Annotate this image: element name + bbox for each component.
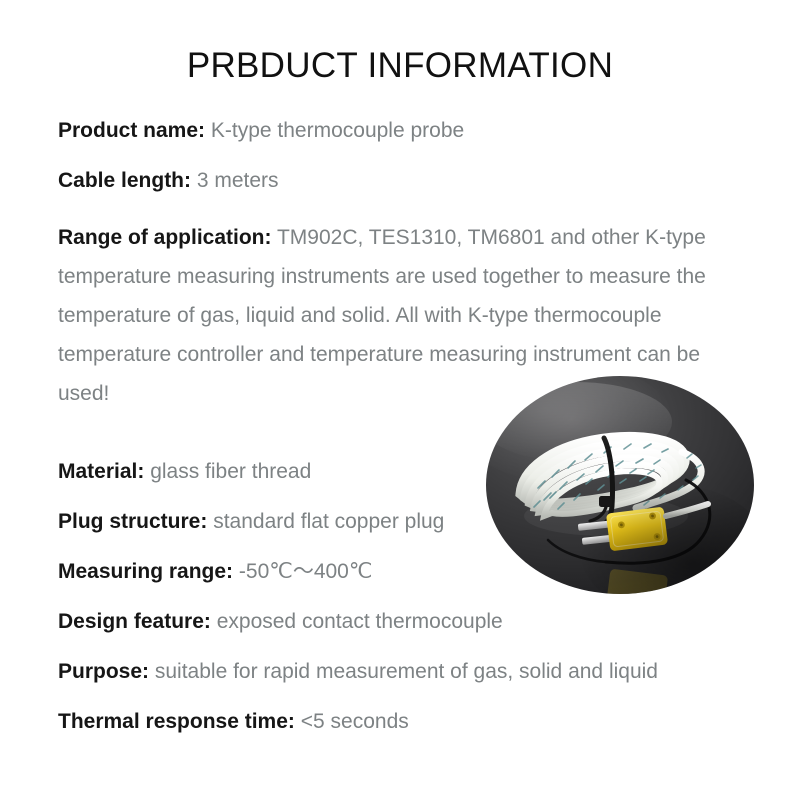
product-information-page: PRBDUCT INFORMATION Product name: K-type…: [0, 0, 800, 800]
spec-value-measuring-range: -50℃～400℃: [239, 560, 373, 583]
spec-row-product-name: Product name: K-type thermocouple probe: [58, 118, 758, 143]
product-photo: [486, 376, 754, 594]
spec-row-design-feature: Design feature: exposed contact thermoco…: [58, 609, 758, 634]
spec-label-cable-length: Cable length:: [58, 169, 191, 192]
thermocouple-illustration: [486, 376, 754, 594]
page-title: PRBDUCT INFORMATION: [0, 46, 800, 86]
spec-label-plug-structure: Plug structure:: [58, 510, 207, 533]
spec-value-product-name: K-type thermocouple probe: [211, 119, 464, 142]
spec-value-purpose: suitable for rapid measurement of gas, s…: [155, 660, 658, 683]
spec-value-design-feature: exposed contact thermocouple: [217, 610, 503, 633]
spec-label-purpose: Purpose:: [58, 660, 149, 683]
spec-label-measuring-range: Measuring range:: [58, 560, 233, 583]
spec-value-cable-length: 3 meters: [197, 169, 279, 192]
spec-value-material: glass fiber thread: [150, 460, 311, 483]
spec-row-thermal-response-time: Thermal response time: <5 seconds: [58, 709, 758, 734]
spec-value-thermal-response-time: <5 seconds: [301, 710, 409, 733]
spec-label-range-of-application: Range of application:: [58, 226, 272, 249]
spec-label-design-feature: Design feature:: [58, 610, 211, 633]
spec-label-product-name: Product name:: [58, 119, 205, 142]
spec-row-cable-length: Cable length: 3 meters: [58, 168, 758, 193]
spec-label-material: Material:: [58, 460, 144, 483]
spec-value-plug-structure: standard flat copper plug: [213, 510, 444, 533]
spec-row-purpose: Purpose: suitable for rapid measurement …: [58, 659, 758, 684]
spec-label-thermal-response-time: Thermal response time:: [58, 710, 295, 733]
